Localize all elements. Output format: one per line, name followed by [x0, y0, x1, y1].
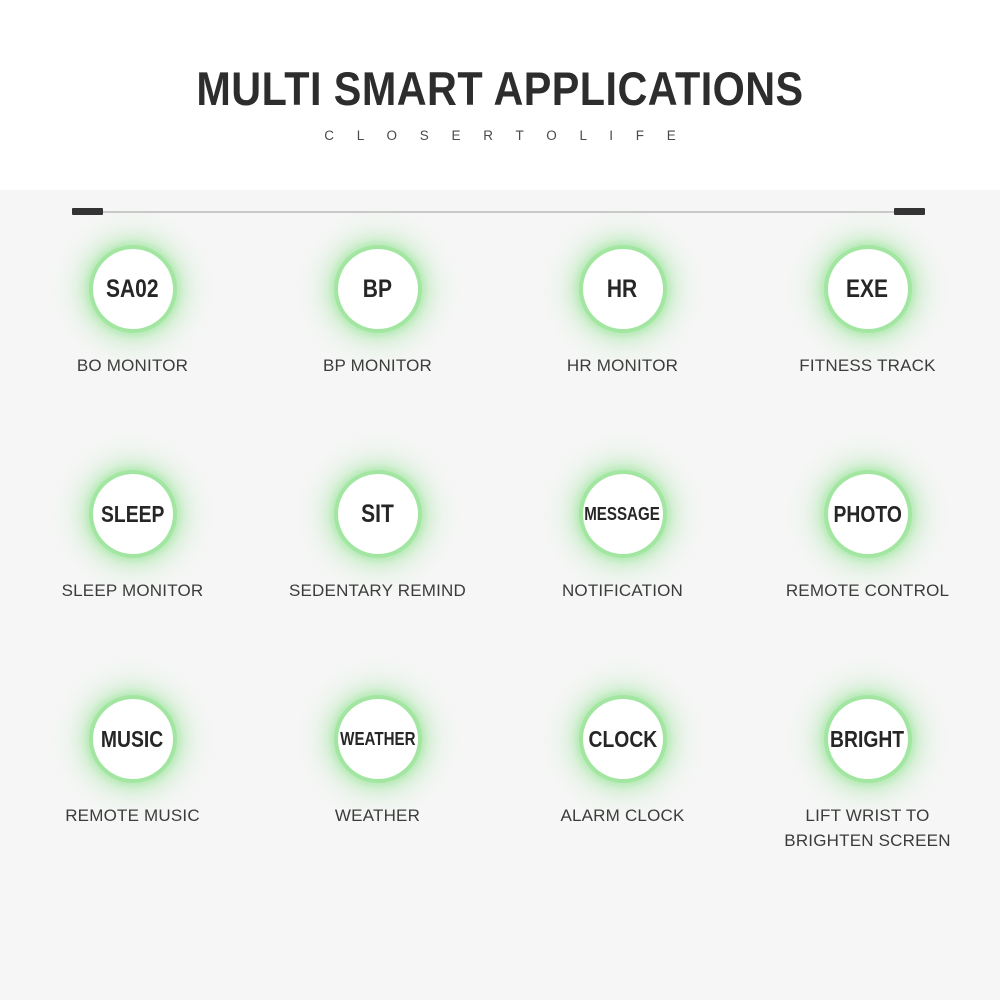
brightness-badge-icon[interactable]: BRIGHT: [829, 700, 907, 778]
app-tile[interactable]: BRIGHTLIFT WRIST TO BRIGHTEN SCREEN: [745, 700, 990, 925]
app-tile-label: BP MONITOR: [323, 354, 432, 379]
heart-rate-badge-icon[interactable]: HR: [584, 250, 662, 328]
app-tile[interactable]: SA02BO MONITOR: [10, 250, 255, 475]
app-tile[interactable]: WEATHERWEATHER: [255, 700, 500, 925]
weather-badge-icon[interactable]: WEATHER: [339, 700, 417, 778]
exercise-badge-icon[interactable]: EXE: [829, 250, 907, 328]
app-badge-text: MUSIC: [101, 728, 163, 751]
app-badge-text: EXE: [846, 277, 888, 302]
sedentary-badge-icon[interactable]: SIT: [339, 475, 417, 553]
app-badge-text: BP: [363, 277, 392, 302]
page-title: MULTI SMART APPLICATIONS: [196, 65, 803, 112]
music-badge-icon[interactable]: MUSIC: [94, 700, 172, 778]
app-badge-text: PHOTO: [833, 503, 901, 526]
sleep-badge-icon[interactable]: SLEEP: [94, 475, 172, 553]
app-tile-label: BO MONITOR: [77, 354, 188, 379]
app-tile-label: ALARM CLOCK: [560, 804, 684, 829]
page-header: MULTI SMART APPLICATIONS C L O S E R T O…: [0, 0, 1000, 190]
divider-line: [72, 211, 925, 213]
divider-cap-left: [72, 208, 103, 215]
app-tile-label: REMOTE MUSIC: [65, 804, 200, 829]
app-badge-text: SLEEP: [101, 503, 164, 526]
multi-smart-applications-page: MULTI SMART APPLICATIONS C L O S E R T O…: [0, 0, 1000, 1000]
app-feature-grid: SA02BO MONITORBPBP MONITORHRHR MONITOREX…: [0, 232, 1000, 1000]
clock-badge-icon[interactable]: CLOCK: [584, 700, 662, 778]
app-tile-label: HR MONITOR: [567, 354, 678, 379]
app-tile[interactable]: CLOCKALARM CLOCK: [500, 700, 745, 925]
app-badge-text: CLOCK: [588, 728, 657, 751]
app-tile[interactable]: SLEEPSLEEP MONITOR: [10, 475, 255, 700]
photo-badge-icon[interactable]: PHOTO: [829, 475, 907, 553]
app-tile-label: SEDENTARY REMIND: [289, 579, 466, 604]
app-tile-label: FITNESS TRACK: [799, 354, 935, 379]
app-tile-label: NOTIFICATION: [562, 579, 683, 604]
page-subtitle: C L O S E R T O L I F E: [315, 128, 686, 143]
section-divider: [0, 190, 1000, 232]
app-badge-text: SA02: [106, 277, 159, 302]
app-badge-text: MESSAGE: [585, 505, 661, 523]
divider-cap-right: [894, 208, 925, 215]
app-tile-label: WEATHER: [335, 804, 420, 829]
app-tile[interactable]: BPBP MONITOR: [255, 250, 500, 475]
app-tile[interactable]: EXEFITNESS TRACK: [745, 250, 990, 475]
app-tile-label: REMOTE CONTROL: [786, 579, 949, 604]
app-tile-label: LIFT WRIST TO BRIGHTEN SCREEN: [784, 804, 950, 853]
app-tile[interactable]: MESSAGENOTIFICATION: [500, 475, 745, 700]
app-tile[interactable]: HRHR MONITOR: [500, 250, 745, 475]
app-tile[interactable]: MUSICREMOTE MUSIC: [10, 700, 255, 925]
app-tile[interactable]: PHOTOREMOTE CONTROL: [745, 475, 990, 700]
message-badge-icon[interactable]: MESSAGE: [584, 475, 662, 553]
app-tile[interactable]: SITSEDENTARY REMIND: [255, 475, 500, 700]
app-badge-text: HR: [607, 277, 637, 302]
app-tile-label: SLEEP MONITOR: [62, 579, 204, 604]
blood-pressure-badge-icon[interactable]: BP: [339, 250, 417, 328]
spo2-badge-icon[interactable]: SA02: [94, 250, 172, 328]
app-badge-text: WEATHER: [340, 730, 415, 748]
app-badge-text: BRIGHT: [830, 728, 904, 751]
app-badge-text: SIT: [361, 502, 394, 527]
